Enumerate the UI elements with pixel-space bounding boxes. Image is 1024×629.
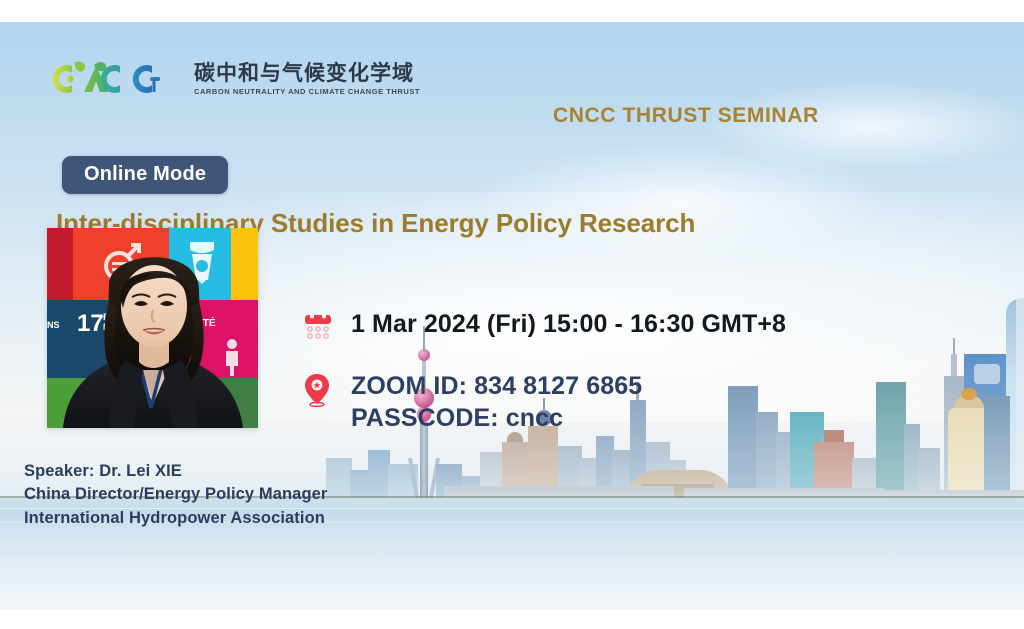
cncc-logo: 碳中和与气候变化学域 CARBON NEUTRALITY AND CLIMATE…	[50, 58, 420, 100]
seminar-kicker: CNCC THRUST SEMINAR	[553, 104, 819, 128]
zoom-id-text: ZOOM ID: 834 8127 6865	[351, 370, 642, 402]
location-pin-icon	[303, 373, 337, 412]
speaker-org: International Hydropower Association	[24, 507, 327, 530]
zoom-info-row: ZOOM ID: 834 8127 6865 PASSCODE: cncc	[303, 370, 642, 434]
logo-name-en: CARBON NEUTRALITY AND CLIMATE CHANGE THR…	[194, 88, 420, 96]
skyline-illustration	[324, 214, 1024, 504]
speaker-photo: 17 PP NS UVRETÉ	[47, 228, 258, 428]
speaker-portrait	[47, 228, 258, 428]
passcode-text: PASSCODE: cncc	[351, 402, 642, 434]
seminar-poster: 碳中和与气候变化学域 CARBON NEUTRALITY AND CLIMATE…	[0, 22, 1024, 610]
speaker-name: Speaker: Dr. Lei XIE	[24, 460, 327, 483]
speaker-info: Speaker: Dr. Lei XIE China Director/Ener…	[24, 460, 327, 530]
logo-name-cn: 碳中和与气候变化学域	[194, 63, 420, 84]
date-row: 1 Mar 2024 (Fri) 15:00 - 16:30 GMT+8	[303, 308, 786, 346]
online-mode-badge: Online Mode	[62, 156, 228, 194]
cncc-logo-icon	[50, 58, 180, 100]
calendar-icon	[303, 311, 337, 346]
date-time-text: 1 Mar 2024 (Fri) 15:00 - 16:30 GMT+8	[351, 308, 786, 337]
speaker-role: China Director/Energy Policy Manager	[24, 483, 327, 506]
